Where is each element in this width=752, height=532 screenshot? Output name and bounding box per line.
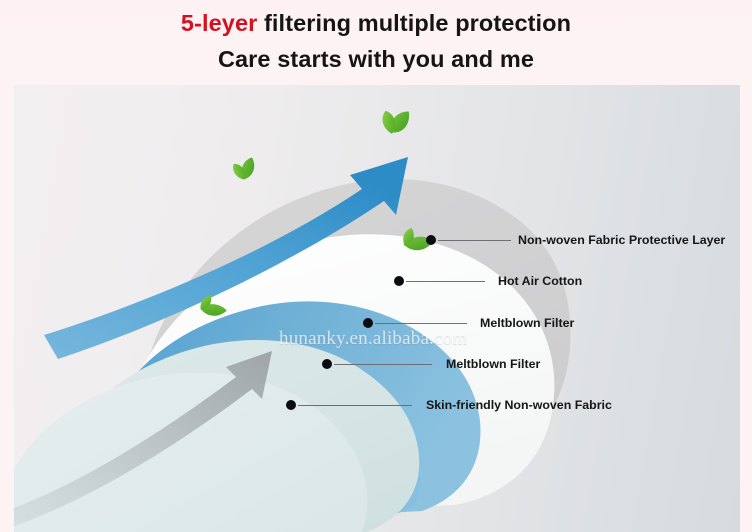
mask-layers-illustration <box>14 85 740 532</box>
callout-line-4 <box>334 364 432 365</box>
callout-dot-5 <box>286 400 296 410</box>
callout-label-4: Meltblown Filter <box>446 358 540 370</box>
callout-dot-3 <box>363 318 373 328</box>
page-title-line-2: Care starts with you and me <box>0 45 752 73</box>
illustration-panel: hunanky.en.alibaba.com Non-woven Fabric … <box>14 85 740 532</box>
callout-label-5: Skin-friendly Non-woven Fabric <box>426 399 612 411</box>
callout-line-5 <box>298 405 412 406</box>
callout-dot-1 <box>426 235 436 245</box>
callout-line-3 <box>375 323 467 324</box>
page-title-rest: filtering multiple protection <box>257 10 571 36</box>
callout-label-2: Hot Air Cotton <box>498 275 582 287</box>
callout-line-1 <box>438 240 511 241</box>
callout-dot-2 <box>394 276 404 286</box>
leaf-icon-left <box>230 152 261 182</box>
header-banner: 5-leyer filtering multiple protection Ca… <box>0 0 752 85</box>
callout-dot-4 <box>322 359 332 369</box>
callout-label-1: Non-woven Fabric Protective Layer <box>518 234 725 246</box>
callout-line-2 <box>406 281 485 282</box>
callout-label-3: Meltblown Filter <box>480 317 574 329</box>
page-title-accent: 5-leyer <box>181 10 257 36</box>
leaf-icon-top <box>380 104 414 136</box>
page-title-line-1: 5-leyer filtering multiple protection <box>0 9 752 37</box>
